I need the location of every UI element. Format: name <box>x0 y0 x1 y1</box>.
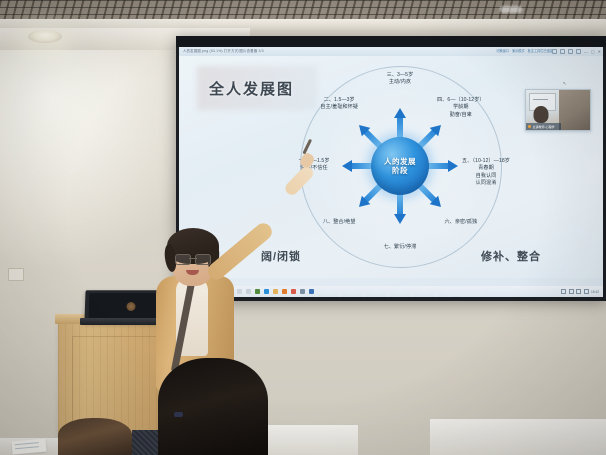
diagram-label-6: 六、亲密/孤独 <box>428 219 494 226</box>
folder-icon[interactable] <box>273 289 278 294</box>
ceiling-highlight <box>500 6 522 13</box>
participant-silhouette <box>534 106 549 123</box>
participant-name: 主讲教师·心理学 <box>533 125 555 129</box>
app-icon[interactable] <box>291 289 296 294</box>
maximize-button[interactable]: ▢ <box>591 49 595 54</box>
mail-icon[interactable] <box>300 289 305 294</box>
app-title-bar: 人的发展图.png (53.1%) 打开方式/图片查看器 3/3 切换窗口 · … <box>179 47 603 56</box>
audience-member-front <box>158 358 268 455</box>
meeting-icon[interactable] <box>282 289 287 294</box>
mic-on-icon <box>528 125 532 129</box>
more-icon[interactable] <box>576 49 582 55</box>
minimize-icon[interactable] <box>552 49 558 55</box>
development-stages-diagram: 人的发展 阶段 一、0—1.5岁 信任/不信任二、1.5—3岁 自主/羞耻和怀疑… <box>291 60 509 274</box>
minimize-button[interactable]: — <box>584 49 588 54</box>
wall-outlet-icon <box>8 268 24 281</box>
arrow-shaft <box>397 193 403 215</box>
window-toolbar-icons[interactable] <box>552 49 582 55</box>
arrow-shaft <box>427 163 449 169</box>
hub-line-2: 阶段 <box>392 166 408 175</box>
settings-icon[interactable] <box>568 49 574 55</box>
audience-member-second <box>58 418 132 455</box>
diagram-center-hub: 人的发展 阶段 <box>371 137 429 195</box>
classroom-photo: 人的发展图.png (53.1%) 打开方式/图片查看器 3/3 切换窗口 · … <box>0 0 606 455</box>
window-title: 人的发展图.png (53.1%) 打开方式/图片查看器 3/3 <box>183 48 264 53</box>
volume-icon[interactable] <box>569 289 574 294</box>
diagram-label-4: 四、6—（10-12岁） 学龄期 勤奋/自卑 <box>428 97 494 119</box>
diagram-label-7: 七、繁衍/停滞 <box>367 244 433 251</box>
diagram-label-3: 三、3—5岁 主动/内疚 <box>367 72 433 87</box>
desk-middle <box>268 424 358 455</box>
downlight-icon <box>28 30 62 43</box>
hair-clip-icon <box>174 412 183 417</box>
system-tray[interactable]: 15:42 <box>561 289 599 294</box>
hub-line-1: 人的发展 <box>384 157 416 166</box>
webcam-tile-secondary[interactable] <box>559 90 590 130</box>
close-button[interactable]: ✕ <box>598 49 601 54</box>
desk-right <box>430 418 606 455</box>
diagram-label-2: 二、1.5—3岁 自主/羞耻和怀疑 <box>306 97 372 112</box>
diagram-label-8: 八、整合/绝望 <box>306 219 372 226</box>
taskbar-clock: 15:42 <box>591 290 599 294</box>
display-bezel <box>176 36 606 47</box>
network-icon[interactable] <box>561 289 566 294</box>
restore-icon[interactable] <box>560 49 566 55</box>
diagram-label-5: 五、（10-12）—18岁 青春期 自我认同 认同混淆 <box>453 158 519 188</box>
window-icon[interactable] <box>309 289 314 294</box>
slide-title: 全人发展图 <box>209 78 294 99</box>
arrow-shaft <box>351 163 373 169</box>
glasses-icon <box>175 254 211 263</box>
window-controls[interactable]: — ▢ ✕ <box>584 49 601 54</box>
laptop-logo-icon <box>126 302 135 311</box>
arrow-shaft <box>397 117 403 139</box>
battery-icon[interactable] <box>576 289 581 294</box>
window-status: 切换窗口 · 演示模式 · 批注工具栏已固定 <box>496 48 553 53</box>
participant-name-badge: 主讲教师·心理学 <box>526 123 561 130</box>
webcam-panel[interactable]: 主讲教师·心理学 <box>525 89 591 131</box>
ime-icon[interactable] <box>584 289 589 294</box>
mouse-cursor-icon: ↖ <box>563 81 567 87</box>
